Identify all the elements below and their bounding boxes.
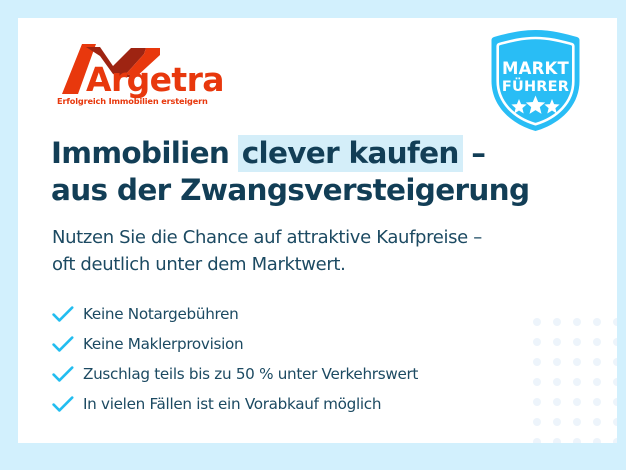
grid-dot	[613, 318, 617, 326]
logo-tagline: Erfolgreich Immobilien ersteigern	[57, 96, 208, 106]
list-item: In vielen Fällen ist ein Vorabkauf mögli…	[52, 389, 418, 419]
grid-dot	[613, 398, 617, 406]
subtitle-line1: Nutzen Sie die Chance auf attraktive Kau…	[52, 227, 482, 248]
grid-dot	[593, 418, 601, 426]
list-item-label: In vielen Fällen ist ein Vorabkauf mögli…	[76, 395, 381, 413]
grid-dot	[573, 398, 581, 406]
list-item: Keine Maklerprovision	[52, 329, 418, 359]
grid-dot	[533, 418, 541, 426]
grid-dot	[593, 338, 601, 346]
grid-dot	[613, 338, 617, 346]
list-item-label: Zuschlag teils bis zu 50 % unter Verkehr…	[76, 365, 418, 383]
grid-dot	[573, 318, 581, 326]
list-item-label: Keine Maklerprovision	[76, 335, 243, 353]
badge-line1: MARKT	[502, 59, 569, 78]
headline-part-before: Immobilien	[51, 136, 239, 170]
headline-highlight: clever kaufen	[238, 135, 463, 172]
grid-dot	[573, 338, 581, 346]
grid-dot	[533, 338, 541, 346]
grid-dot	[593, 358, 601, 366]
logo-mark-row: Argetra Erfolgreich Immobilien ersteiger…	[56, 44, 236, 100]
grid-dot	[613, 418, 617, 426]
grid-dot	[593, 438, 601, 443]
benefits-list: Keine Notargebühren Keine Maklerprovisio…	[52, 299, 418, 419]
argetra-logo[interactable]: Argetra Erfolgreich Immobilien ersteiger…	[56, 44, 236, 100]
logo-wordmark: Argetra	[86, 63, 224, 96]
grid-dot	[553, 378, 561, 386]
banner-canvas: Argetra Erfolgreich Immobilien ersteiger…	[18, 18, 617, 443]
grid-dot	[533, 318, 541, 326]
grid-dot	[553, 318, 561, 326]
dot-grid-decoration	[533, 318, 617, 443]
grid-dot	[593, 378, 601, 386]
grid-dot	[573, 358, 581, 366]
grid-dot	[553, 338, 561, 346]
grid-dot	[613, 358, 617, 366]
check-icon	[52, 366, 76, 383]
check-icon	[52, 306, 76, 323]
market-leader-badge: MARKT FÜHRER	[488, 29, 583, 132]
list-item: Keine Notargebühren	[52, 299, 418, 329]
grid-dot	[533, 378, 541, 386]
list-item-label: Keine Notargebühren	[76, 305, 239, 323]
grid-dot	[613, 378, 617, 386]
grid-dot	[593, 318, 601, 326]
grid-dot	[573, 378, 581, 386]
headline-part-after: –	[462, 136, 486, 170]
subtitle-line2: oft deutlich unter dem Marktwert.	[52, 254, 346, 275]
badge-line2: FÜHRER	[502, 77, 569, 95]
grid-dot	[533, 438, 541, 443]
grid-dot	[573, 438, 581, 443]
grid-dot	[533, 358, 541, 366]
grid-dot	[553, 398, 561, 406]
grid-dot	[573, 418, 581, 426]
grid-dot	[533, 398, 541, 406]
grid-dot	[553, 358, 561, 366]
headline-line2: aus der Zwangsversteigerung	[51, 173, 529, 207]
promo-banner: Argetra Erfolgreich Immobilien ersteiger…	[0, 0, 626, 470]
grid-dot	[553, 438, 561, 443]
grid-dot	[553, 418, 561, 426]
check-icon	[52, 336, 76, 353]
check-icon	[52, 396, 76, 413]
subtitle: Nutzen Sie die Chance auf attraktive Kau…	[52, 224, 482, 278]
list-item: Zuschlag teils bis zu 50 % unter Verkehr…	[52, 359, 418, 389]
page-title: Immobilien clever kaufen – aus der Zwang…	[51, 135, 529, 209]
grid-dot	[593, 398, 601, 406]
grid-dot	[613, 438, 617, 443]
headline-line1: Immobilien clever kaufen –	[51, 136, 485, 170]
